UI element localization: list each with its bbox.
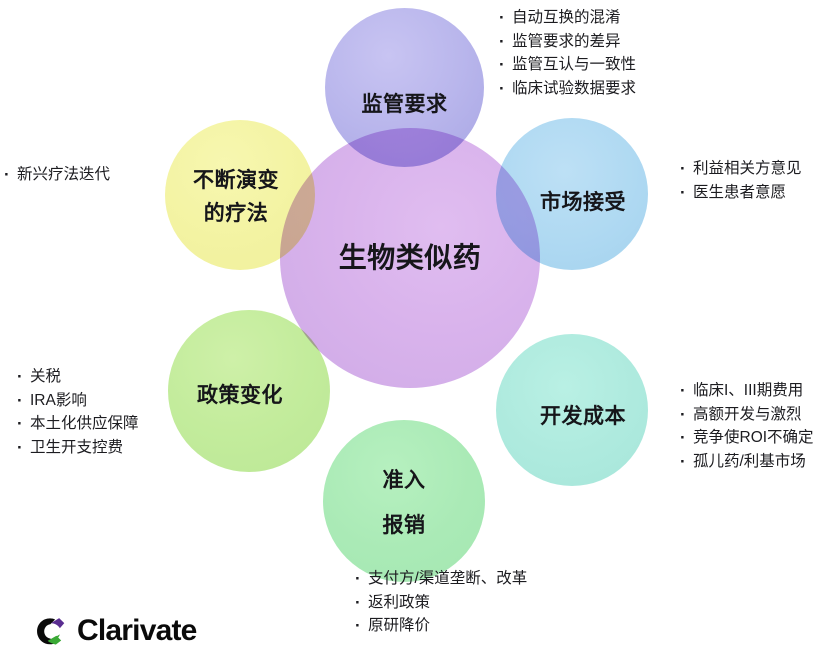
note-item: 临床I、III期费用 <box>680 379 814 403</box>
note-item: 临床试验数据要求 <box>499 77 636 101</box>
clarivate-logo-mark-icon <box>34 614 68 648</box>
bubble-label-market-acceptance: 市场接受 <box>540 188 626 218</box>
bubble-market-acceptance[interactable]: 市场接受 <box>496 118 648 270</box>
clarivate-wordmark: Clarivate <box>77 616 197 646</box>
notes-policy-change: 关税 IRA影响 本土化供应保障 卫生开支控费 <box>17 365 139 459</box>
clarivate-logo: Clarivate <box>34 614 197 648</box>
note-item: 监管要求的差异 <box>499 30 636 54</box>
note-list: 关税 IRA影响 本土化供应保障 卫生开支控费 <box>17 365 139 459</box>
notes-access-reimbursement: 支付方/渠道垄断、改革 返利政策 原研降价 <box>355 567 527 638</box>
note-list: 新兴疗法迭代 <box>4 163 110 187</box>
note-item: 关税 <box>17 365 139 389</box>
notes-market-acceptance: 利益相关方意见 医生患者意愿 <box>680 157 802 204</box>
note-item: 支付方/渠道垄断、改革 <box>355 567 527 591</box>
bubble-label-development-cost: 开发成本 <box>540 402 626 432</box>
bubble-label-access-reimbursement: 准入 报销 <box>383 458 426 548</box>
notes-regulatory-requirements: 自动互换的混淆 监管要求的差异 监管互认与一致性 临床试验数据要求 <box>499 6 636 100</box>
notes-evolving-therapies: 新兴疗法迭代 <box>4 163 110 187</box>
note-item: 自动互换的混淆 <box>499 6 636 30</box>
bubble-label-regulatory-requirements: 监管要求 <box>362 90 448 120</box>
note-item: 原研降价 <box>355 614 527 638</box>
note-list: 临床I、III期费用 高额开发与激烈 竞争使ROI不确定 孤儿药/利基市场 <box>680 379 814 473</box>
bubble-cluster: 不断演变 的疗法 政策变化 生物类似药 监管要求 市场接受 开发成本 准入 报销 <box>0 0 824 658</box>
bubble-regulatory-requirements[interactable]: 监管要求 <box>325 8 484 167</box>
diagram-canvas: 不断演变 的疗法 政策变化 生物类似药 监管要求 市场接受 开发成本 准入 报销… <box>0 0 824 658</box>
bubble-development-cost[interactable]: 开发成本 <box>496 334 648 486</box>
note-item: 竞争使ROI不确定 <box>680 426 814 450</box>
note-item: 监管互认与一致性 <box>499 53 636 77</box>
note-list: 利益相关方意见 医生患者意愿 <box>680 157 802 204</box>
center-bubble-label: 生物类似药 <box>339 238 482 278</box>
bubble-access-reimbursement[interactable]: 准入 报销 <box>323 420 485 582</box>
note-item: 新兴疗法迭代 <box>4 163 110 187</box>
note-list: 自动互换的混淆 监管要求的差异 监管互认与一致性 临床试验数据要求 <box>499 6 636 100</box>
note-item: 医生患者意愿 <box>680 181 802 205</box>
note-item: 返利政策 <box>355 591 527 615</box>
note-item: 利益相关方意见 <box>680 157 802 181</box>
bubble-label-evolving-therapies: 不断演变 的疗法 <box>193 165 279 230</box>
note-item: 高额开发与激烈 <box>680 403 814 427</box>
note-item: 卫生开支控费 <box>17 436 139 460</box>
note-item: IRA影响 <box>17 389 139 413</box>
note-item: 本土化供应保障 <box>17 412 139 436</box>
bubble-label-policy-change: 政策变化 <box>197 381 283 411</box>
note-list: 支付方/渠道垄断、改革 返利政策 原研降价 <box>355 567 527 638</box>
note-item: 孤儿药/利基市场 <box>680 450 814 474</box>
notes-development-cost: 临床I、III期费用 高额开发与激烈 竞争使ROI不确定 孤儿药/利基市场 <box>680 379 814 473</box>
